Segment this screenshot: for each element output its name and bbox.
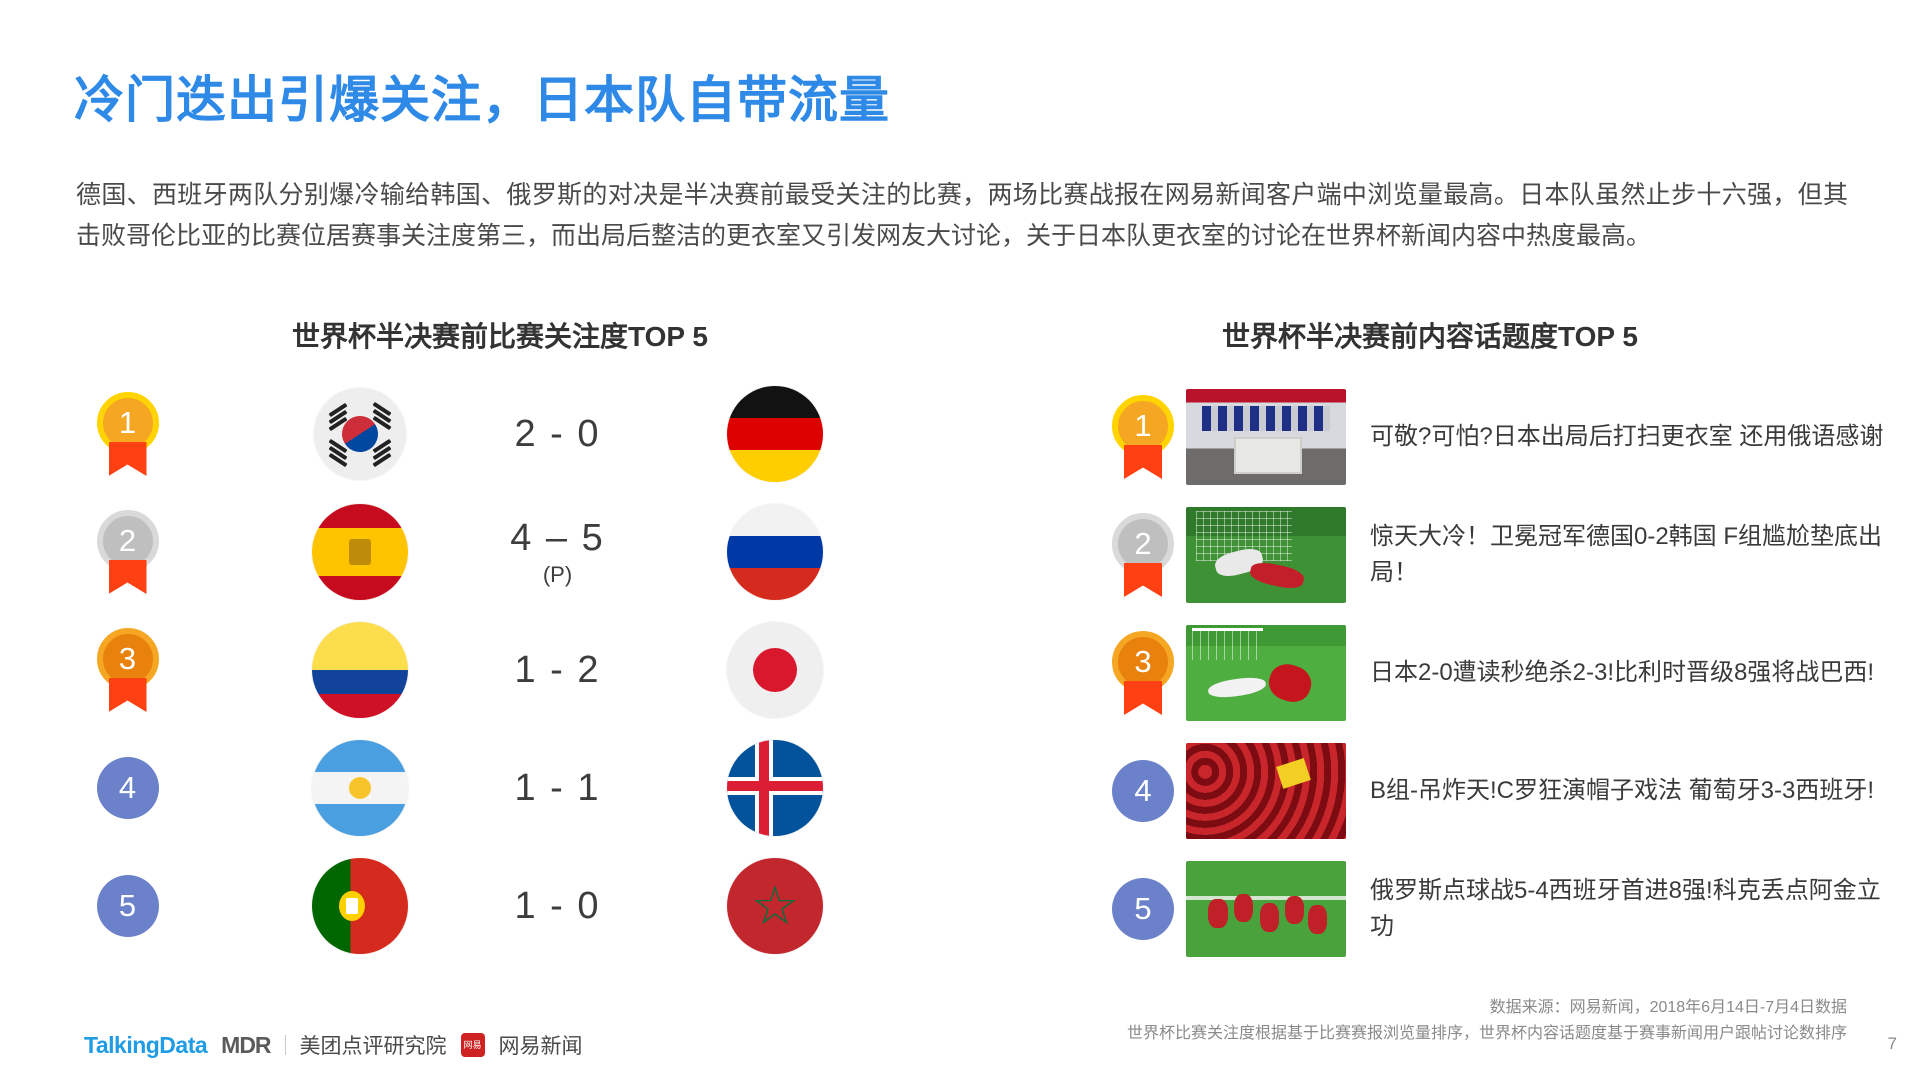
source-note: 数据来源：网易新闻，2018年6月14日-7月4日数据 世界杯比赛关注度根据基于…: [1127, 995, 1847, 1047]
rank-cell: 1: [1100, 395, 1186, 479]
score-text: 4 – 5: [510, 517, 605, 560]
news-headline[interactable]: B组-吊炸天!C罗狂演帽子戏法 葡萄牙3-3西班牙!: [1370, 773, 1900, 809]
source-line-2: 世界杯比赛关注度根据基于比赛赛报浏览量排序，世界杯内容话题度基于赛事新闻用户跟帖…: [1127, 1021, 1847, 1047]
list-item[interactable]: 2 惊天大冷！卫冕冠军德国0-2韩国 F组尴尬垫底出局！: [1100, 496, 1900, 614]
medal-gold-icon: 1: [1112, 395, 1174, 479]
flag-japan-icon: [727, 622, 823, 718]
news-thumbnail-1: [1186, 389, 1346, 485]
ribbon-icon: [1124, 681, 1162, 715]
medal-gold-icon: 1: [97, 392, 159, 476]
flag-morocco-icon: ☆: [727, 858, 823, 954]
medal-silver-icon: 2: [97, 510, 159, 594]
rank-badge-4: 4: [1112, 760, 1174, 822]
team-a-cell: [255, 388, 465, 480]
table-row: 3 1 - 2: [0, 611, 960, 729]
score-text: 1 - 2: [514, 649, 600, 692]
news-headline[interactable]: 日本2-0遭读秒绝杀2-3!比利时晋级8强将战巴西!: [1370, 655, 1900, 691]
rank-cell: 2: [0, 510, 255, 594]
score-text: 1 - 0: [514, 885, 600, 928]
score-cell: 1 - 1: [465, 767, 650, 810]
news-thumbnail-3: [1186, 625, 1346, 721]
intro-paragraph: 德国、西班牙两队分别爆冷输给韩国、俄罗斯的对决是半决赛前最受关注的比赛，两场比赛…: [76, 175, 1848, 257]
flag-iceland-icon: [727, 740, 823, 836]
netease-news-logo: 网易新闻: [499, 1030, 583, 1060]
table-row: 5 1 - 0 ☆: [0, 847, 960, 965]
ribbon-icon: [109, 442, 147, 476]
meituan-research-logo: 美团点评研究院: [300, 1030, 447, 1060]
match-attention-list: 1: [0, 375, 960, 965]
flag-portugal-icon: [312, 858, 408, 954]
medal-silver-icon: 2: [1112, 513, 1174, 597]
team-a-cell: [255, 622, 465, 718]
slide-page: 冷门迭出引爆关注，日本队自带流量 德国、西班牙两队分别爆冷输给韩国、俄罗斯的对决…: [0, 0, 1921, 1080]
mdr-logo: MDR: [221, 1032, 270, 1059]
source-line-1: 数据来源：网易新闻，2018年6月14日-7月4日数据: [1127, 995, 1847, 1021]
divider: [285, 1035, 286, 1055]
section-title-matches: 世界杯半决赛前比赛关注度TOP 5: [0, 315, 1000, 355]
list-item[interactable]: 5 俄罗斯点球战5-4西班牙首进8强!科克丢点阿金立功: [1100, 850, 1900, 968]
rank-cell: 3: [1100, 631, 1186, 715]
score-note: (P): [543, 562, 572, 588]
flag-argentina-icon: [312, 740, 408, 836]
score-text: 2 - 0: [514, 413, 600, 456]
flag-germany-icon: [727, 386, 823, 482]
list-item[interactable]: 1 可敬?可怕?日本出局后打扫更衣室 还用俄语感谢: [1100, 378, 1900, 496]
news-thumbnail-4: [1186, 743, 1346, 839]
news-headline[interactable]: 惊天大冷！卫冕冠军德国0-2韩国 F组尴尬垫底出局！: [1370, 519, 1900, 591]
ribbon-icon: [109, 560, 147, 594]
medal-bronze-icon: 3: [1112, 631, 1174, 715]
score-cell: 1 - 0: [465, 885, 650, 928]
rank-cell: 3: [0, 628, 255, 712]
ribbon-icon: [109, 678, 147, 712]
rank-badge-5: 5: [1112, 878, 1174, 940]
medal-bronze-icon: 3: [97, 628, 159, 712]
table-row: 1: [0, 375, 960, 493]
page-number: 7: [1888, 1034, 1897, 1054]
news-headline[interactable]: 俄罗斯点球战5-4西班牙首进8强!科克丢点阿金立功: [1370, 873, 1900, 945]
table-row: 4 1 - 1: [0, 729, 960, 847]
flag-colombia-icon: [312, 622, 408, 718]
rank-cell: 4: [0, 757, 255, 819]
flag-spain-icon: [312, 504, 408, 600]
rank-cell: 2: [1100, 513, 1186, 597]
rank-badge-4: 4: [97, 757, 159, 819]
list-item[interactable]: 4 B组-吊炸天!C罗狂演帽子戏法 葡萄牙3-3西班牙!: [1100, 732, 1900, 850]
table-row: 2 4 – 5 (P): [0, 493, 960, 611]
score-cell: 2 - 0: [465, 413, 650, 456]
flag-russia-icon: [727, 504, 823, 600]
news-thumbnail-5: [1186, 861, 1346, 957]
footer-logos: TalkingData MDR 美团点评研究院 网易 网易新闻: [84, 1030, 583, 1060]
score-cell: 4 – 5 (P): [465, 517, 650, 588]
team-b-cell: [650, 386, 900, 482]
rank-badge-5: 5: [97, 875, 159, 937]
team-b-cell: ☆: [650, 858, 900, 954]
team-a-cell: [255, 858, 465, 954]
score-text: 1 - 1: [514, 767, 600, 810]
team-b-cell: [650, 622, 900, 718]
rank-cell: 5: [0, 875, 255, 937]
page-title: 冷门迭出引爆关注，日本队自带流量: [74, 60, 890, 132]
rank-cell: 4: [1100, 760, 1186, 822]
news-headline[interactable]: 可敬?可怕?日本出局后打扫更衣室 还用俄语感谢: [1370, 419, 1900, 455]
team-b-cell: [650, 504, 900, 600]
team-b-cell: [650, 740, 900, 836]
rank-cell: 5: [1100, 878, 1186, 940]
news-topic-list: 1 可敬?可怕?日本出局后打扫更衣室 还用俄语感谢 2 惊天大冷！卫冕冠军德国0…: [1100, 378, 1900, 968]
ribbon-icon: [1124, 563, 1162, 597]
netease-badge-icon: 网易: [461, 1033, 485, 1057]
team-a-cell: [255, 740, 465, 836]
flag-south-korea-icon: [314, 388, 406, 480]
score-cell: 1 - 2: [465, 649, 650, 692]
section-title-news: 世界杯半决赛前内容话题度TOP 5: [980, 315, 1880, 355]
talkingdata-logo: TalkingData: [84, 1032, 207, 1059]
team-a-cell: [255, 504, 465, 600]
ribbon-icon: [1124, 445, 1162, 479]
news-thumbnail-2: [1186, 507, 1346, 603]
rank-cell: 1: [0, 392, 255, 476]
list-item[interactable]: 3 日本2-0遭读秒绝杀2-3!比利时晋级8强将战巴西!: [1100, 614, 1900, 732]
